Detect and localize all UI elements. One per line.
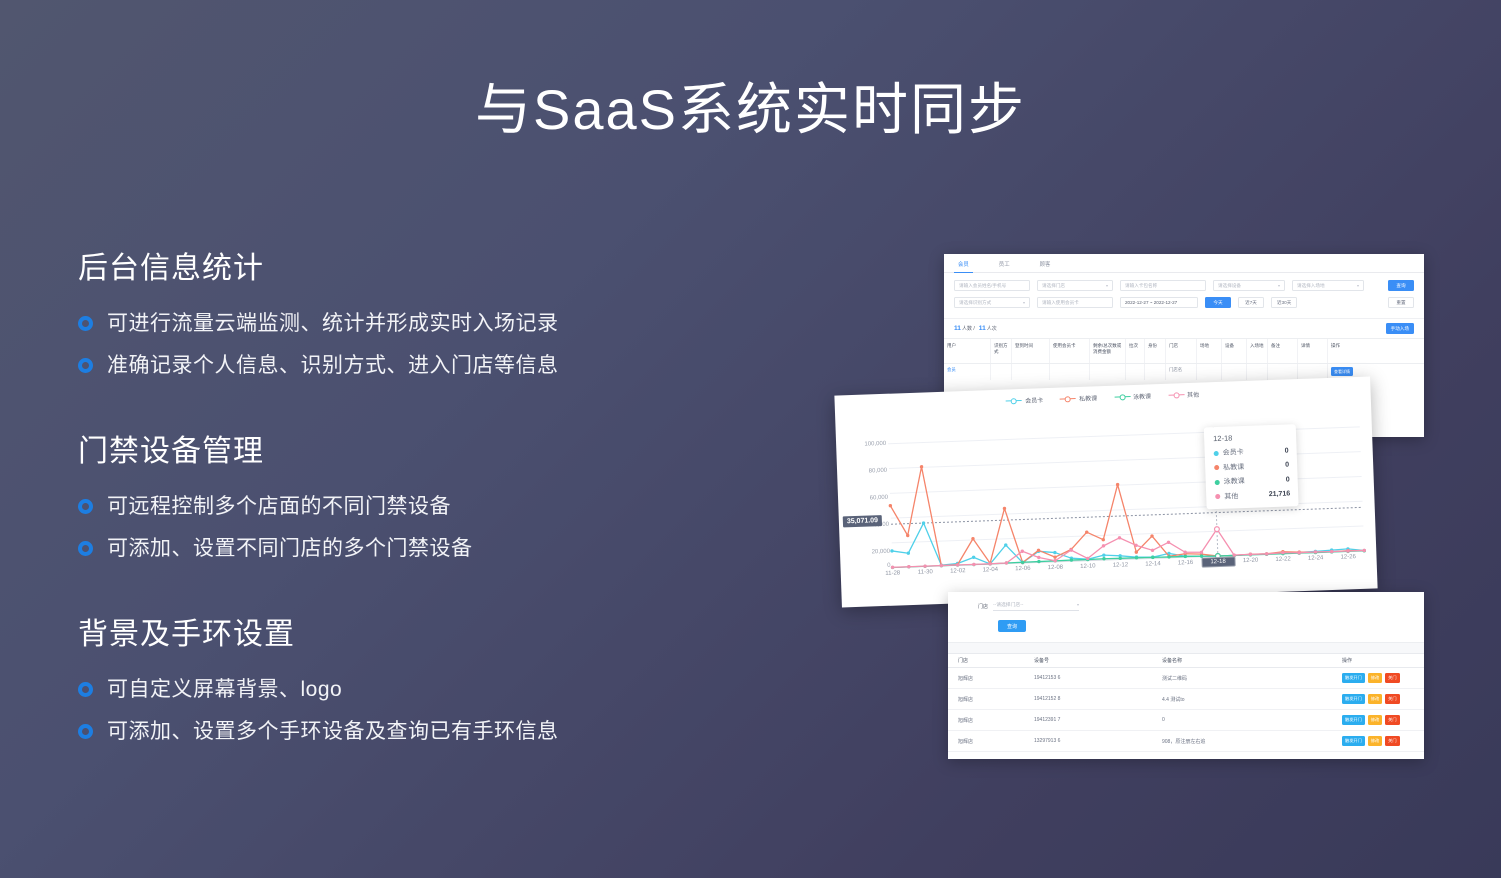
cell-device — [1222, 364, 1247, 380]
feature-item: 可添加、设置不同门店的多个门禁设备 — [78, 532, 718, 562]
tooltip-row-swim-class: 泳教课 0 — [1215, 474, 1290, 487]
filter-row-1: 请输入会员姓名/手机号 请选择门店 ▾ 请输入卡包名称 请选择设备 ▾ 请选择入… — [954, 280, 1414, 291]
member-card-input[interactable]: 请输入使用会员卡 — [1037, 297, 1113, 308]
cell-user[interactable]: 会员 — [944, 364, 991, 380]
cell-store: 旭辉店 — [948, 717, 1034, 724]
feature-item-label: 可远程控制多个店面的不同门禁设备 — [107, 490, 451, 520]
device-store-select-value: --请选择门店-- — [993, 601, 1023, 608]
feature-item-label: 可自定义屏幕背景、logo — [107, 673, 342, 703]
entry-records-tabs: 会员 员工 顾客 — [944, 254, 1424, 273]
manual-entry-button[interactable]: 手动入场 — [1386, 323, 1414, 334]
cell-store: 旭辉店 — [948, 696, 1034, 703]
entry-table-header: 用户 识别方式 登到时间 使用会员卡 剩余/总次数或消费金额 拉次 身份 门店 … — [944, 338, 1424, 364]
page-title: 与SaaS系统实时同步 — [0, 78, 1501, 142]
col-remaining: 剩余/总次数或消费金额 — [1090, 339, 1126, 363]
tooltip-row-member-card: 会员卡 0 — [1213, 445, 1288, 458]
cell-operations: 触发开门 修改 关门 — [1342, 715, 1424, 725]
recognition-select[interactable]: 请选择识别方式 ▾ — [954, 297, 1030, 308]
xtick-11-30: 11-30 — [908, 569, 942, 576]
col-store: 门店 — [1166, 339, 1197, 363]
xtick-12-08: 12-08 — [1038, 564, 1072, 571]
table-row: 旭辉店 19412152 8 4.4 测试to 触发开门 修改 关门 — [948, 689, 1424, 710]
legend-label: 其他 — [1187, 390, 1199, 399]
consumption-chart-screenshot: 会员卡 私教课 泳教课 其他 100,000 80,000 60,000 40,… — [834, 376, 1377, 607]
entry-records-filters: 请输入会员姓名/手机号 请选择门店 ▾ 请输入卡包名称 请选择设备 ▾ 请选择入… — [944, 273, 1424, 318]
view-detail-button[interactable]: 查看详情 — [1331, 367, 1353, 376]
tab-staff[interactable]: 员工 — [999, 260, 1010, 272]
legend-marker-icon — [1006, 397, 1022, 405]
tooltip-series-name: 其他 — [1224, 491, 1238, 501]
col-detail: 详情 — [1298, 339, 1328, 363]
col-card: 使用会员卡 — [1050, 339, 1090, 363]
card-number-input[interactable]: 请输入卡包名称 — [1120, 280, 1206, 291]
device-filter-label: 门店 — [978, 603, 988, 610]
tooltip-series-name: 会员卡 — [1222, 447, 1243, 458]
legend-label: 私教课 — [1079, 393, 1097, 403]
tooltip-series-value: 0 — [1285, 461, 1289, 468]
cell-device-no: 13297913 6 — [1034, 738, 1162, 744]
xtick-12-26: 12-26 — [1331, 554, 1365, 561]
bullet-ring-icon — [78, 499, 93, 514]
entry-count-mid-label: 人数 / — [962, 325, 975, 332]
chevron-down-icon: ▾ — [1077, 602, 1079, 607]
legend-entry-swim-class[interactable]: 泳教课 — [1114, 391, 1151, 401]
edit-button[interactable]: 修改 — [1368, 736, 1382, 746]
col-venue: 场地 — [1197, 339, 1222, 363]
chart-tooltip: 12-18 会员卡 0 私教课 0 泳教课 0 其他 21,716 — [1204, 424, 1299, 509]
col-time: 登到时间 — [1012, 339, 1050, 363]
feature-item-label: 准确记录个人信息、识别方式、进入门店等信息 — [107, 349, 559, 379]
legend-entry-member-card[interactable]: 会员卡 — [1006, 395, 1043, 405]
legend-entry-private-class[interactable]: 私教课 — [1060, 393, 1097, 403]
device-table-screenshot: 门店 --请选择门店-- ▾ 查询 门店 设备号 设备名称 操作 旭辉店 194… — [948, 592, 1424, 759]
feature-item: 可远程控制多个店面的不同门禁设备 — [78, 490, 718, 520]
cell-device-name: 908，原注册左右追 — [1162, 738, 1342, 745]
tooltip-dot-icon — [1215, 479, 1220, 484]
cell-time — [1012, 364, 1050, 380]
col-operations: 操作 — [1342, 657, 1424, 664]
feature-block-2: 门禁设备管理 可远程控制多个店面的不同门禁设备 可添加、设置不同门店的多个门禁设… — [78, 426, 718, 562]
reset-button[interactable]: 重置 — [1388, 297, 1414, 308]
bullet-ring-icon — [78, 682, 93, 697]
edit-button[interactable]: 修改 — [1368, 694, 1382, 704]
edit-button[interactable]: 修改 — [1368, 715, 1382, 725]
cell-remaining — [1090, 364, 1126, 380]
tooltip-dot-icon — [1214, 465, 1219, 470]
cell-operations: 触发开门 修改 关门 — [1342, 673, 1424, 683]
table-row: 旭辉店 13297913 6 908，原注册左右追 触发开门 修改 关门 — [948, 731, 1424, 752]
legend-label: 会员卡 — [1025, 395, 1043, 405]
feature-item-label: 可添加、设置不同门店的多个门禁设备 — [107, 532, 473, 562]
search-button[interactable]: 查询 — [1388, 280, 1414, 291]
col-action: 操作 — [1328, 339, 1358, 363]
device-search-button[interactable]: 查询 — [998, 620, 1026, 632]
legend-marker-icon — [1060, 395, 1076, 403]
xtick-12-04: 12-04 — [973, 567, 1007, 574]
xtick-12-20: 12-20 — [1234, 557, 1268, 564]
col-identity: 身份 — [1145, 339, 1166, 363]
feature-block-3: 背景及手环设置 可自定义屏幕背景、logo 可添加、设置多个手环设备及查询已有手… — [78, 609, 718, 745]
store-select-value: 请选择门店 — [1042, 283, 1065, 289]
entry-count-people: 11 — [954, 325, 961, 332]
recognition-select-value: 请选择识别方式 — [959, 300, 991, 306]
xtick-12-18: 12-18 — [1201, 556, 1235, 567]
tooltip-row-private-class: 私教课 0 — [1214, 460, 1289, 473]
feature-heading: 门禁设备管理 — [78, 426, 718, 470]
trigger-open-door-button[interactable]: 触发开门 — [1342, 736, 1365, 746]
cell-device-no: 19412153 6 — [1034, 675, 1162, 681]
entry-type-select[interactable]: 请选择入场地 ▾ — [1292, 280, 1364, 291]
close-door-button[interactable]: 关门 — [1385, 673, 1399, 683]
tooltip-series-value: 0 — [1286, 476, 1290, 483]
xtick-12-10: 12-10 — [1071, 563, 1105, 570]
cell-recognition — [991, 364, 1012, 380]
close-door-button[interactable]: 关门 — [1385, 715, 1399, 725]
device-table-spacer — [948, 642, 1424, 653]
device-filter-row: 门店 --请选择门店-- ▾ — [948, 592, 1424, 611]
cell-remark — [1268, 364, 1298, 380]
cell-device-name: 测试二维码 — [1162, 675, 1342, 682]
tooltip-dot-icon — [1214, 450, 1219, 455]
chevron-down-icon: ▾ — [1278, 283, 1280, 288]
tooltip-row-other: 其他 21,716 — [1215, 489, 1290, 502]
cell-store: 门店名 — [1166, 364, 1197, 380]
feature-block-1: 后台信息统计 可进行流量云端监测、统计并形成实时入场记录 准确记录个人信息、识别… — [78, 243, 718, 379]
chevron-down-icon: ▾ — [1023, 300, 1025, 305]
tab-customer[interactable]: 顾客 — [1040, 260, 1051, 272]
feature-item: 准确记录个人信息、识别方式、进入门店等信息 — [78, 349, 718, 379]
xtick-12-22: 12-22 — [1266, 556, 1300, 563]
col-times: 拉次 — [1126, 339, 1145, 363]
entry-count-end-label: 人次 — [987, 325, 997, 332]
close-door-button[interactable]: 关门 — [1385, 736, 1399, 746]
feature-list: 后台信息统计 可进行流量云端监测、统计并形成实时入场记录 准确记录个人信息、识别… — [78, 243, 718, 745]
col-remark: 备注 — [1268, 339, 1298, 363]
trigger-open-door-button[interactable]: 触发开门 — [1342, 694, 1365, 704]
col-device-no: 设备号 — [1034, 657, 1162, 664]
legend-marker-icon — [1114, 393, 1130, 401]
col-entry-point: 入场地 — [1247, 339, 1268, 363]
legend-marker-icon — [1168, 391, 1184, 399]
xtick-12-24: 12-24 — [1299, 555, 1333, 562]
col-device-name: 设备名称 — [1162, 657, 1342, 664]
entry-count-bar: 11 人数 / 11 人次 手动入场 — [944, 318, 1424, 338]
xtick-12-16: 12-16 — [1168, 560, 1202, 567]
trigger-open-door-button[interactable]: 触发开门 — [1342, 715, 1365, 725]
table-row: 旭辉店 19412391 7 0 触发开门 修改 关门 — [948, 710, 1424, 731]
cell-operations: 触发开门 修改 关门 — [1342, 736, 1424, 746]
trigger-open-door-button[interactable]: 触发开门 — [1342, 673, 1365, 683]
chevron-down-icon: ▾ — [1106, 283, 1108, 288]
feature-heading: 背景及手环设置 — [78, 609, 718, 653]
cell-device-no: 19412391 7 — [1034, 717, 1162, 723]
feature-item-label: 可添加、设置多个手环设备及查询已有手环信息 — [107, 715, 559, 745]
xtick-12-02: 12-02 — [941, 568, 975, 575]
close-door-button[interactable]: 关门 — [1385, 694, 1399, 704]
tooltip-dot-icon — [1215, 494, 1220, 499]
cell-operations: 触发开门 修改 关门 — [1342, 694, 1424, 704]
device-store-select[interactable]: --请选择门店-- ▾ — [993, 601, 1079, 611]
date-range-input[interactable]: 2022-12-27 ~ 2022-12-27 — [1120, 297, 1198, 308]
cell-entry-point — [1247, 364, 1268, 380]
member-name-input[interactable]: 请输入会员姓名/手机号 — [954, 280, 1030, 291]
cell-device-name: 4.4 测试to — [1162, 696, 1342, 703]
col-user: 用户 — [944, 339, 991, 363]
table-row: 旭辉店 19412153 6 测试二维码 触发开门 修改 关门 — [948, 668, 1424, 689]
xtick-12-12: 12-12 — [1103, 562, 1137, 569]
quick-range-7days[interactable]: 近7天 — [1238, 297, 1264, 308]
feature-item: 可进行流量云端监测、统计并形成实时入场记录 — [78, 307, 718, 337]
cell-store: 旭辉店 — [948, 738, 1034, 745]
cell-device-name: 0 — [1162, 717, 1342, 723]
xtick-12-06: 12-06 — [1006, 565, 1040, 572]
cell-card — [1050, 364, 1090, 380]
cell-times — [1126, 364, 1145, 380]
bullet-ring-icon — [78, 316, 93, 331]
tab-member[interactable]: 会员 — [958, 260, 969, 272]
edit-button[interactable]: 修改 — [1368, 673, 1382, 683]
tooltip-series-name: 泳教课 — [1224, 476, 1245, 487]
tooltip-series-value: 21,716 — [1269, 490, 1291, 498]
filter-row-2: 请选择识别方式 ▾ 请输入使用会员卡 2022-12-27 ~ 2022-12-… — [954, 297, 1414, 308]
feature-heading: 后台信息统计 — [78, 243, 718, 287]
xtick-11-28: 11-28 — [876, 570, 910, 577]
cell-venue — [1197, 364, 1222, 380]
tooltip-date: 12-18 — [1213, 431, 1288, 443]
device-select[interactable]: 请选择设备 ▾ — [1213, 280, 1285, 291]
col-device: 设备 — [1222, 339, 1247, 363]
col-store: 门店 — [948, 657, 1034, 664]
feature-item: 可自定义屏幕背景、logo — [78, 673, 718, 703]
device-table-header: 门店 设备号 设备名称 操作 — [948, 653, 1424, 668]
quick-range-today[interactable]: 今天 — [1205, 297, 1231, 308]
bullet-ring-icon — [78, 358, 93, 373]
entry-type-select-value: 请选择入场地 — [1297, 283, 1325, 289]
entry-count-visits: 11 — [979, 325, 986, 332]
store-select[interactable]: 请选择门店 ▾ — [1037, 280, 1113, 291]
col-recognition: 识别方式 — [991, 339, 1012, 363]
quick-range-30days[interactable]: 近30天 — [1271, 297, 1297, 308]
cell-identity — [1145, 364, 1166, 380]
bullet-ring-icon — [78, 541, 93, 556]
chevron-down-icon: ▾ — [1357, 283, 1359, 288]
chart-plot-area: 100,000 80,000 60,000 40,000 20,000 0 35… — [835, 393, 1378, 607]
tooltip-series-value: 0 — [1285, 447, 1289, 454]
device-select-value: 请选择设备 — [1218, 283, 1241, 289]
feature-item-label: 可进行流量云端监测、统计并形成实时入场记录 — [107, 307, 559, 337]
tooltip-series-name: 私教课 — [1223, 462, 1244, 473]
legend-entry-other[interactable]: 其他 — [1168, 390, 1199, 400]
legend-label: 泳教课 — [1133, 391, 1151, 401]
feature-item: 可添加、设置多个手环设备及查询已有手环信息 — [78, 715, 718, 745]
bullet-ring-icon — [78, 724, 93, 739]
threshold-marker-label: 35,071.09 — [843, 515, 883, 527]
cell-device-no: 19412152 8 — [1034, 696, 1162, 702]
cell-store: 旭辉店 — [948, 675, 1034, 682]
xtick-12-14: 12-14 — [1136, 561, 1170, 568]
